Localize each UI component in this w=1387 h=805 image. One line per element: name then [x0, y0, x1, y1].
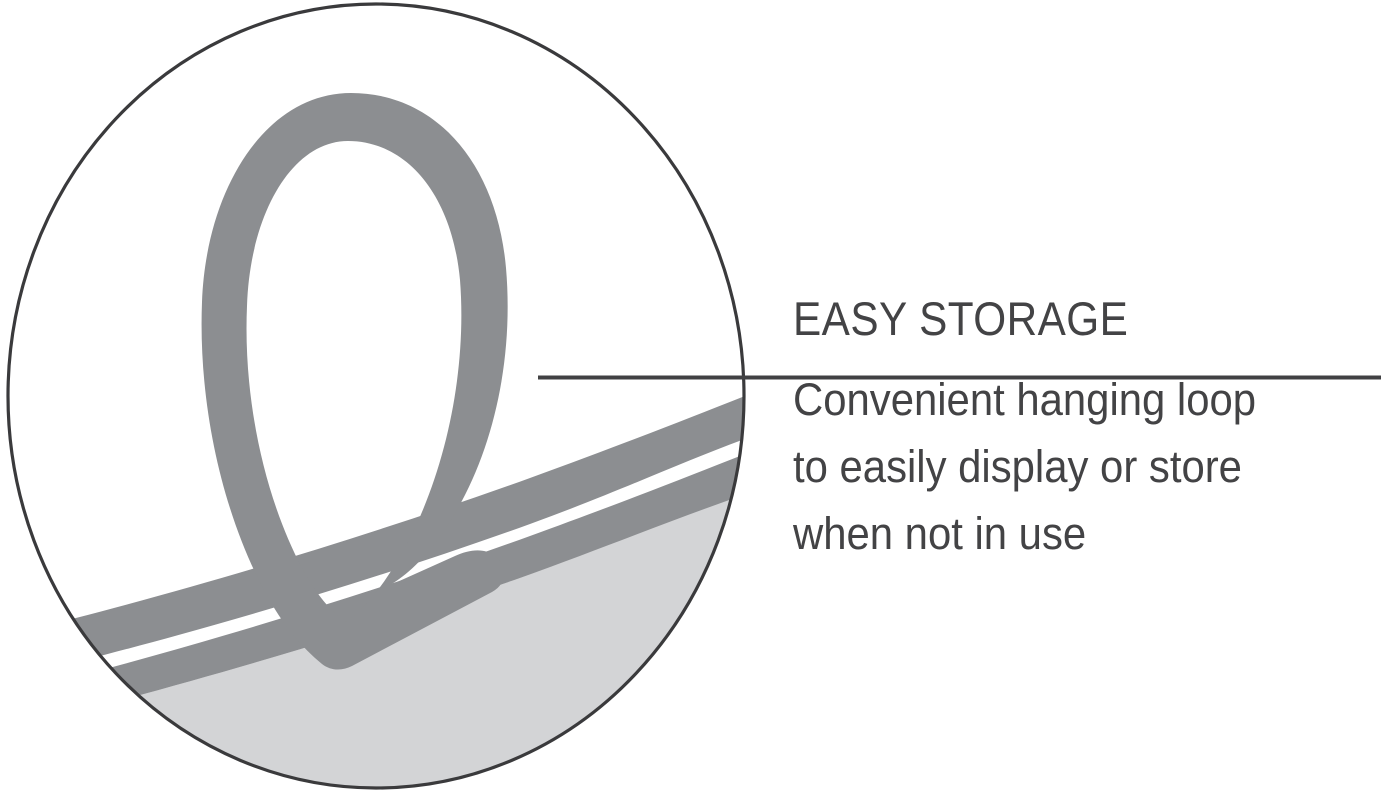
callout-text-block: EASY STORAGE Convenient hanging loop to …	[793, 292, 1383, 567]
description-line-1: Convenient hanging loop	[793, 366, 1342, 433]
page-title: EASY STORAGE	[793, 292, 1324, 346]
description-line-3: when not in use	[793, 500, 1342, 567]
description-line-2: to easily display or store	[793, 433, 1342, 500]
feature-description: Convenient hanging loop to easily displa…	[793, 346, 1342, 567]
callout-figure: EASY STORAGE Convenient hanging loop to …	[0, 0, 1387, 805]
